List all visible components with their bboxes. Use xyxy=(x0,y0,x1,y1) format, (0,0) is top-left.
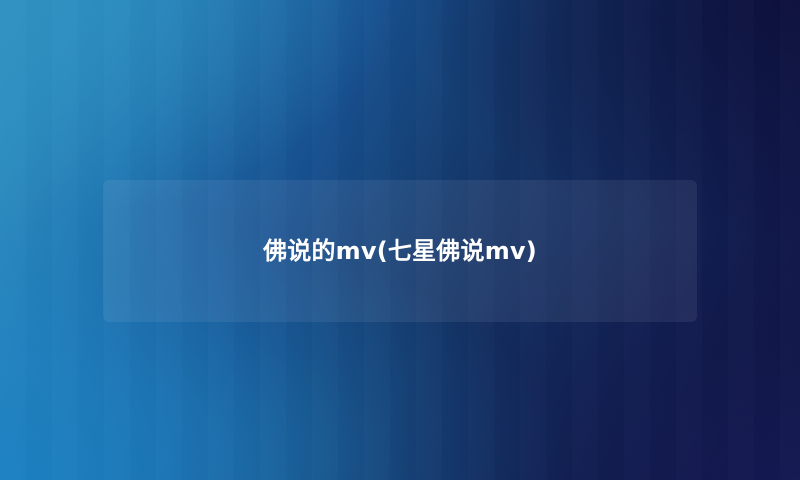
banner-title: 佛说的mv(七星佛说mv) xyxy=(263,237,537,266)
title-overlay-panel: 佛说的mv(七星佛说mv) xyxy=(103,180,697,322)
banner-image: 佛说的mv(七星佛说mv) xyxy=(0,0,800,480)
